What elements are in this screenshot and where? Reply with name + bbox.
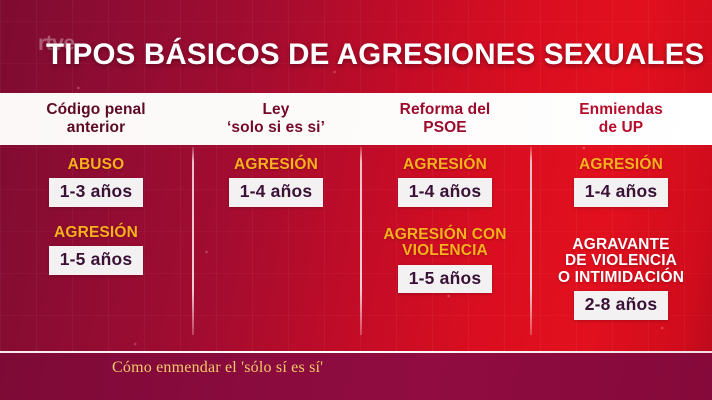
comparison-columns: ABUSO 1-3 años AGRESIÓN 1-5 años AGRESIÓ… bbox=[0, 145, 712, 352]
column-header-line-1: Código penal bbox=[0, 101, 192, 119]
entry-value-badge: 1-5 años bbox=[49, 246, 144, 275]
column-codigo-penal-anterior: ABUSO 1-3 años AGRESIÓN 1-5 años bbox=[0, 145, 192, 352]
entry-value-badge: 1-5 años bbox=[398, 265, 493, 294]
entry-value-badge: 1-4 años bbox=[398, 178, 493, 207]
footer-band bbox=[0, 353, 712, 400]
entry-label: AGRESIÓN bbox=[530, 157, 712, 173]
column-header-reforma-del-psoe: Reforma del PSOE bbox=[360, 101, 530, 138]
column-header-line-1: Reforma del bbox=[360, 101, 530, 119]
column-header-line-2: PSOE bbox=[360, 119, 530, 137]
entry-abuso: ABUSO 1-3 años bbox=[0, 157, 192, 207]
column-divider-line bbox=[192, 147, 194, 335]
column-reforma-del-psoe: AGRESIÓN 1-4 años AGRESIÓN CON VIOLENCIA… bbox=[360, 145, 530, 352]
entry-agresion-con-violencia: AGRESIÓN CON VIOLENCIA 1-5 años bbox=[360, 227, 530, 293]
column-header-codigo-penal-anterior: Código penal anterior bbox=[0, 101, 192, 138]
entry-value-badge: 1-3 años bbox=[49, 178, 144, 207]
infographic-slide: rtve TIPOS BÁSICOS DE AGRESIONES SEXUALE… bbox=[0, 0, 712, 400]
column-enmiendas-de-up: AGRESIÓN 1-4 años AGRAVANTE DE VIOLENCIA… bbox=[530, 145, 712, 352]
column-header-line-2: ‘solo si es si’ bbox=[192, 119, 360, 137]
entry-label-line-1: AGRESIÓN CON bbox=[383, 226, 506, 243]
column-divider-line bbox=[360, 147, 362, 335]
entry-label: ABUSO bbox=[0, 157, 192, 173]
column-header-enmiendas-de-up: Enmiendas de UP bbox=[530, 101, 712, 138]
entry-agresion: AGRESIÓN 1-4 años bbox=[530, 157, 712, 207]
entry-agresion: AGRESIÓN 1-4 años bbox=[360, 157, 530, 207]
entry-label-line-2: VIOLENCIA bbox=[402, 242, 488, 259]
entry-label-line-2: DE VIOLENCIA bbox=[565, 252, 677, 269]
entry-agresion: AGRESIÓN 1-5 años bbox=[0, 225, 192, 275]
entry-label: AGRESIÓN bbox=[192, 157, 360, 173]
column-headers-band: Código penal anterior Ley ‘solo si es si… bbox=[0, 93, 712, 145]
column-header-line-1: Ley bbox=[192, 101, 360, 119]
column-ley-solo-si-es-si: AGRESIÓN 1-4 años bbox=[192, 145, 360, 352]
column-header-ley-solo-si-es-si: Ley ‘solo si es si’ bbox=[192, 101, 360, 138]
column-header-line-2: de UP bbox=[530, 119, 712, 137]
entry-agravante-de-violencia-o-intimidacion: AGRAVANTE DE VIOLENCIA O INTIMIDACIÓN 2-… bbox=[530, 237, 712, 320]
entry-value-badge: 1-4 años bbox=[229, 178, 324, 207]
column-header-line-1: Enmiendas bbox=[530, 101, 712, 119]
entry-agresion: AGRESIÓN 1-4 años bbox=[192, 157, 360, 207]
entry-label: AGRAVANTE DE VIOLENCIA O INTIMIDACIÓN bbox=[530, 237, 712, 286]
entry-value-badge: 1-4 años bbox=[574, 178, 669, 207]
entry-label-line-1: AGRAVANTE bbox=[572, 236, 669, 253]
page-title: TIPOS BÁSICOS DE AGRESIONES SEXUALES bbox=[46, 40, 705, 70]
column-header-line-2: anterior bbox=[0, 119, 192, 137]
entry-label: AGRESIÓN bbox=[360, 157, 530, 173]
footer-caption: Cómo enmendar el 'sólo sí es sí' bbox=[112, 359, 323, 377]
entry-label: AGRESIÓN bbox=[0, 225, 192, 241]
entry-value-badge: 2-8 años bbox=[574, 291, 669, 320]
column-divider-line bbox=[530, 147, 532, 335]
entry-label: AGRESIÓN CON VIOLENCIA bbox=[360, 227, 530, 260]
entry-label-line-3: O INTIMIDACIÓN bbox=[558, 269, 684, 286]
